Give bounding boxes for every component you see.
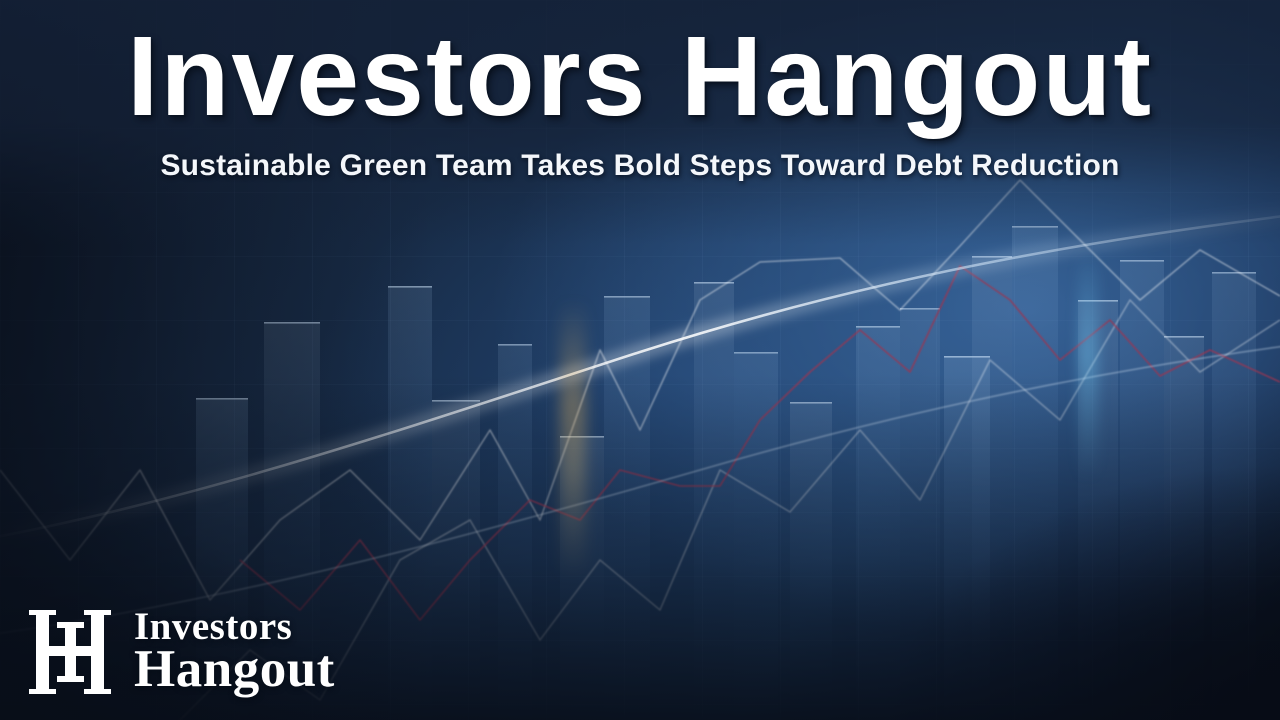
- site-title: Investors Hangout: [0, 18, 1280, 136]
- logo-lockup[interactable]: Investors Hangout: [28, 602, 335, 702]
- headline-block: Investors Hangout Sustainable Green Team…: [0, 0, 1280, 184]
- logo-line-hangout: Hangout: [134, 644, 335, 696]
- article-subtitle: Sustainable Green Team Takes Bold Steps …: [0, 148, 1280, 184]
- article-banner: Investors Hangout Sustainable Green Team…: [0, 0, 1280, 720]
- investors-hangout-monogram-icon: [28, 602, 120, 702]
- logo-wordmark: Investors Hangout: [134, 608, 335, 696]
